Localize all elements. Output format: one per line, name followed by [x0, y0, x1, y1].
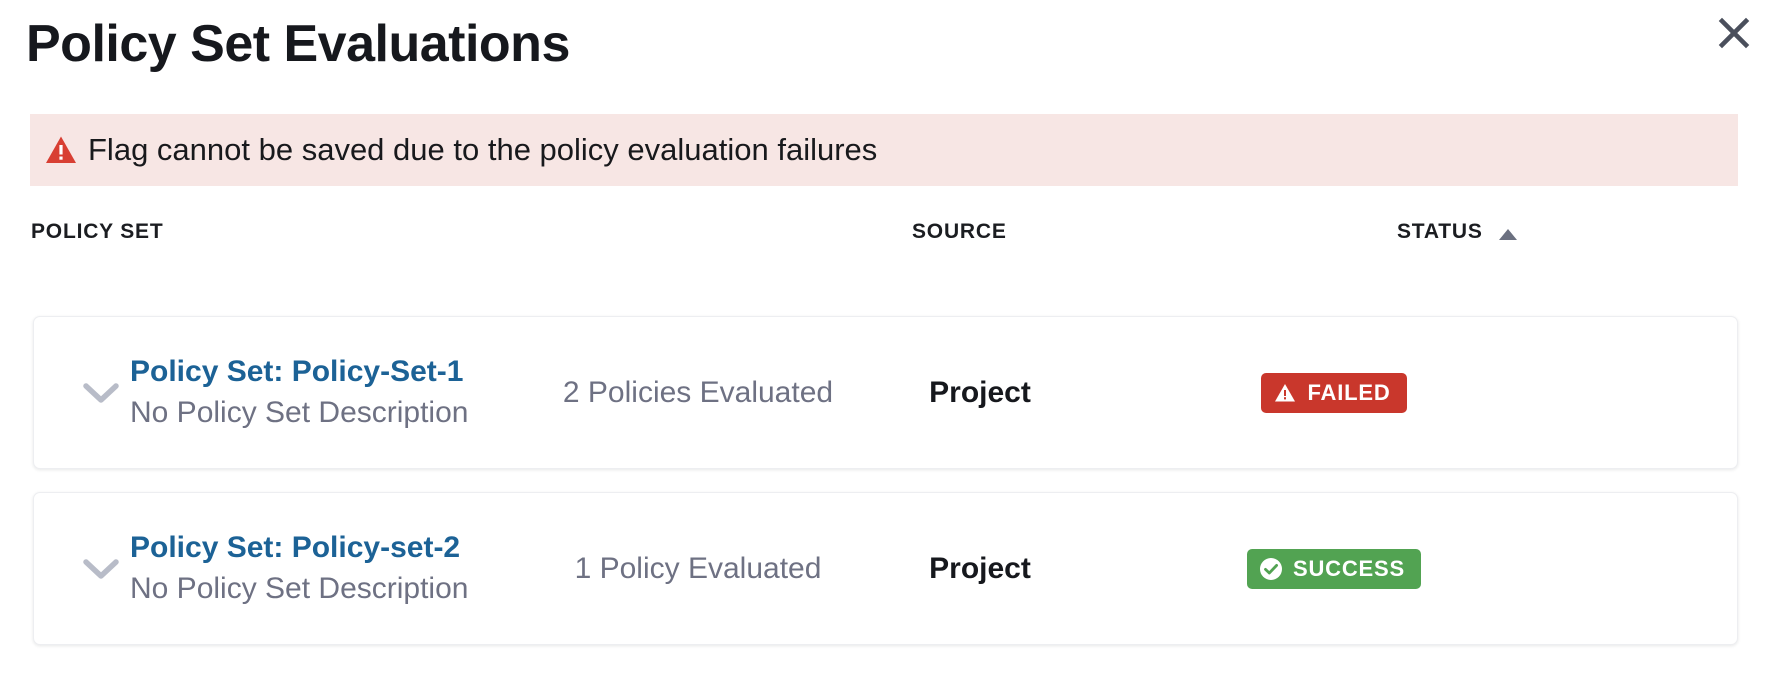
policy-set-cell: Policy Set: Policy-Set-1 No Policy Set D… — [130, 352, 550, 434]
modal-header: Policy Set Evaluations — [0, 0, 1782, 96]
policies-evaluated-count: 2 Policies Evaluated — [518, 375, 878, 411]
table-header-row: POLICY SET SOURCE STATUS — [0, 219, 1782, 263]
policy-set-list: Policy Set: Policy-Set-1 No Policy Set D… — [33, 316, 1738, 668]
column-header-policy-set-label: POLICY SET — [31, 219, 163, 245]
column-header-policy-set[interactable]: POLICY SET — [31, 219, 163, 245]
status-cell: FAILED — [1164, 373, 1504, 413]
status-badge: FAILED — [1261, 373, 1406, 413]
column-header-source-label: SOURCE — [912, 219, 1007, 245]
chevron-down-icon[interactable] — [79, 371, 123, 415]
column-header-status-label: STATUS — [1397, 219, 1483, 245]
policy-set-link[interactable]: Policy Set: Policy-set-2 — [130, 528, 550, 567]
warning-triangle-icon — [44, 133, 78, 167]
source-value: Project — [880, 551, 1080, 587]
policies-evaluated-count: 1 Policy Evaluated — [518, 551, 878, 587]
status-badge: SUCCESS — [1247, 549, 1421, 589]
policy-set-evaluations-modal: Policy Set Evaluations Flag cannot be sa… — [0, 0, 1782, 694]
status-badge-label: FAILED — [1307, 380, 1390, 406]
error-banner-message: Flag cannot be saved due to the policy e… — [88, 132, 877, 168]
warning-triangle-icon — [1273, 381, 1297, 405]
source-value: Project — [880, 375, 1080, 411]
column-header-source[interactable]: SOURCE — [912, 219, 1007, 245]
close-icon — [1717, 16, 1751, 50]
policy-set-cell: Policy Set: Policy-set-2 No Policy Set D… — [130, 528, 550, 610]
chevron-down-icon[interactable] — [79, 547, 123, 591]
column-header-status[interactable]: STATUS — [1397, 219, 1517, 245]
policy-set-link[interactable]: Policy Set: Policy-Set-1 — [130, 352, 550, 391]
check-circle-icon — [1259, 557, 1283, 581]
sort-ascending-arrow-icon — [1499, 229, 1517, 240]
page-title: Policy Set Evaluations — [26, 12, 570, 76]
status-cell: SUCCESS — [1164, 549, 1504, 589]
table-row[interactable]: Policy Set: Policy-Set-1 No Policy Set D… — [33, 316, 1738, 469]
policy-set-description: No Policy Set Description — [130, 567, 550, 610]
status-badge-label: SUCCESS — [1293, 556, 1405, 582]
table-row[interactable]: Policy Set: Policy-set-2 No Policy Set D… — [33, 492, 1738, 645]
policy-set-description: No Policy Set Description — [130, 391, 550, 434]
error-banner: Flag cannot be saved due to the policy e… — [30, 114, 1738, 186]
close-button[interactable] — [1710, 9, 1758, 57]
